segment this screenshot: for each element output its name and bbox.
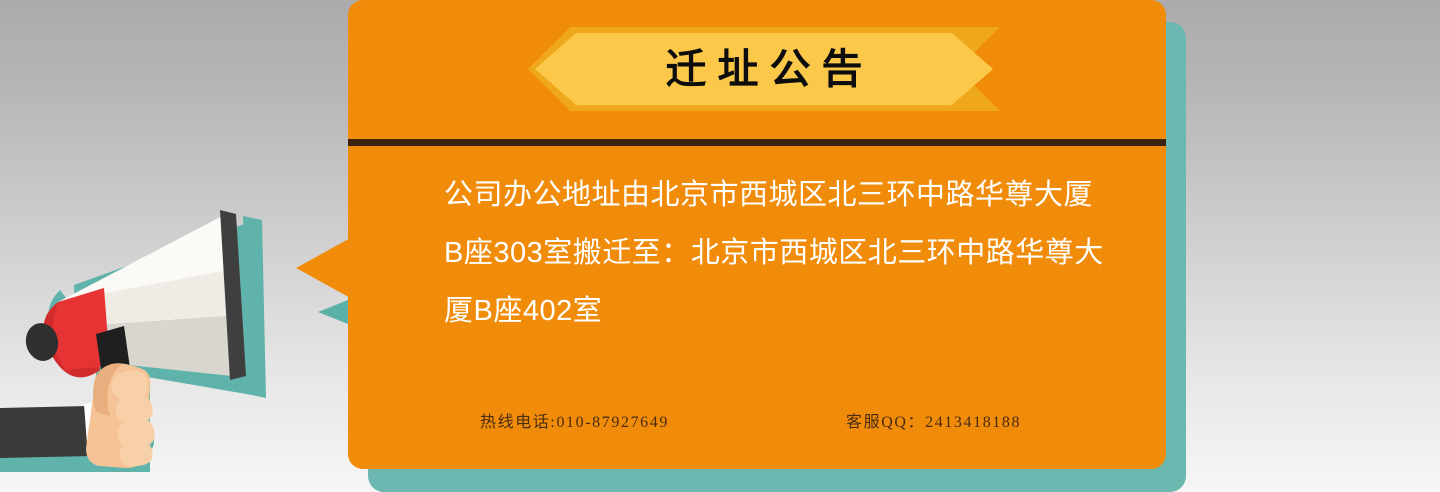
- announcement-body-text: 公司办公地址由北京市西城区北三环中路华尊大厦B座303室搬迁至：北京市西城区北三…: [444, 166, 1104, 340]
- header-divider: [348, 139, 1166, 146]
- megaphone-illustration: [0, 180, 340, 492]
- customer-service-qq-text: 客服QQ：2413418188: [846, 408, 1021, 432]
- hand: [86, 363, 155, 468]
- page-title: 迁址公告: [528, 27, 1000, 111]
- title-ribbon: 迁址公告: [528, 27, 1000, 111]
- contact-footer: 热线电话:010-87927649 客服QQ：2413418188: [444, 408, 1104, 436]
- sleeve: [0, 406, 92, 458]
- hotline-text: 热线电话:010-87927649: [480, 408, 669, 432]
- announcement-banner: 迁址公告 公司办公地址由北京市西城区北三环中路华尊大厦B座303室搬迁至：北京市…: [0, 0, 1440, 492]
